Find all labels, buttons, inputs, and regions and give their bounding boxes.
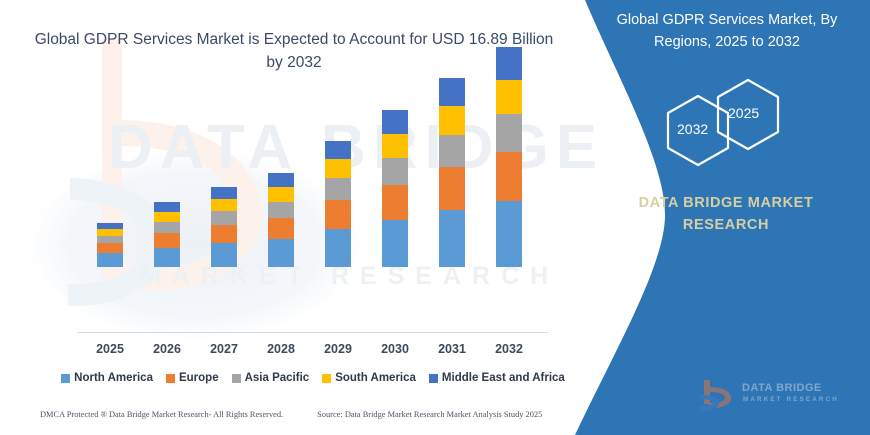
legend-swatch-icon — [61, 374, 70, 383]
bar-segment — [268, 239, 294, 267]
legend-label: Asia Pacific — [245, 372, 310, 384]
x-axis-label-2026: 2026 — [137, 342, 197, 356]
x-axis-label-2027: 2027 — [194, 342, 254, 356]
bar-segment — [325, 200, 351, 229]
legend-item[interactable]: Asia Pacific — [232, 372, 310, 384]
bar-segment — [325, 159, 351, 178]
bar-segment — [211, 211, 237, 225]
bar-2032 — [496, 47, 522, 267]
legend-swatch-icon — [322, 374, 331, 383]
legend-item[interactable]: South America — [322, 372, 416, 384]
bar-segment — [97, 229, 123, 236]
bar-segment — [439, 135, 465, 167]
footer-copyright: DMCA Protected ® Data Bridge Market Rese… — [40, 410, 283, 419]
x-axis-label-2029: 2029 — [308, 342, 368, 356]
bar-segment — [382, 110, 408, 134]
bar-segment — [382, 134, 408, 158]
bar-segment — [382, 185, 408, 220]
x-axis-label-2031: 2031 — [422, 342, 482, 356]
bar-2029 — [325, 141, 351, 267]
x-axis-label-2028: 2028 — [251, 342, 311, 356]
bar-segment — [496, 152, 522, 201]
bar-segment — [439, 210, 465, 267]
bar-segment — [382, 158, 408, 185]
bar-2026 — [154, 202, 180, 267]
bar-segment — [211, 187, 237, 199]
legend-item[interactable]: Europe — [166, 372, 219, 384]
bar-segment — [325, 229, 351, 267]
bar-segment — [496, 47, 522, 80]
footer: DMCA Protected ® Data Bridge Market Rese… — [40, 410, 580, 419]
legend-swatch-icon — [232, 374, 241, 383]
bar-2031 — [439, 78, 465, 267]
legend-label: Middle East and Africa — [442, 372, 565, 384]
bar-segment — [268, 202, 294, 218]
bar-segment — [97, 243, 123, 253]
legend-item[interactable]: North America — [61, 372, 153, 384]
bar-segment — [325, 141, 351, 159]
legend-swatch-icon — [166, 374, 175, 383]
bar-segment — [439, 167, 465, 210]
infographic-root: DATA BRIDGE MARKET RESEARCH Global GDPR … — [0, 0, 870, 435]
bar-segment — [268, 218, 294, 239]
bar-segment — [496, 80, 522, 114]
bar-2027 — [211, 187, 237, 267]
bar-segment — [439, 106, 465, 135]
bar-segment — [496, 201, 522, 267]
bar-segment — [154, 202, 180, 212]
x-axis-line — [78, 332, 548, 333]
footer-source: Source: Data Bridge Market Research Mark… — [317, 410, 542, 419]
bar-segment — [154, 212, 180, 222]
legend-label: Europe — [179, 372, 219, 384]
legend-label: North America — [74, 372, 153, 384]
bar-2025 — [97, 223, 123, 267]
legend-swatch-icon — [429, 374, 438, 383]
bar-segment — [154, 222, 180, 233]
legend-label: South America — [335, 372, 416, 384]
x-axis-label-2030: 2030 — [365, 342, 425, 356]
x-axis-label-2032: 2032 — [479, 342, 539, 356]
bar-2028 — [268, 173, 294, 267]
bar-2030 — [382, 110, 408, 267]
bar-segment — [325, 178, 351, 200]
bar-segment — [439, 78, 465, 106]
bar-segment — [154, 248, 180, 267]
bar-segment — [97, 236, 123, 243]
stacked-bar-chart: 20252026202720282029203020312032 — [0, 0, 600, 370]
bar-segment — [211, 243, 237, 267]
bar-segment — [268, 173, 294, 187]
chart-legend: North AmericaEuropeAsia PacificSouth Ame… — [58, 372, 568, 384]
bar-segment — [154, 233, 180, 248]
bar-segment — [496, 114, 522, 152]
bar-segment — [382, 220, 408, 267]
bar-segment — [97, 253, 123, 267]
bar-segment — [211, 199, 237, 211]
bar-segment — [211, 225, 237, 243]
right-panel-shape — [560, 0, 870, 435]
x-axis-label-2025: 2025 — [80, 342, 140, 356]
legend-item[interactable]: Middle East and Africa — [429, 372, 565, 384]
bar-segment — [268, 187, 294, 202]
